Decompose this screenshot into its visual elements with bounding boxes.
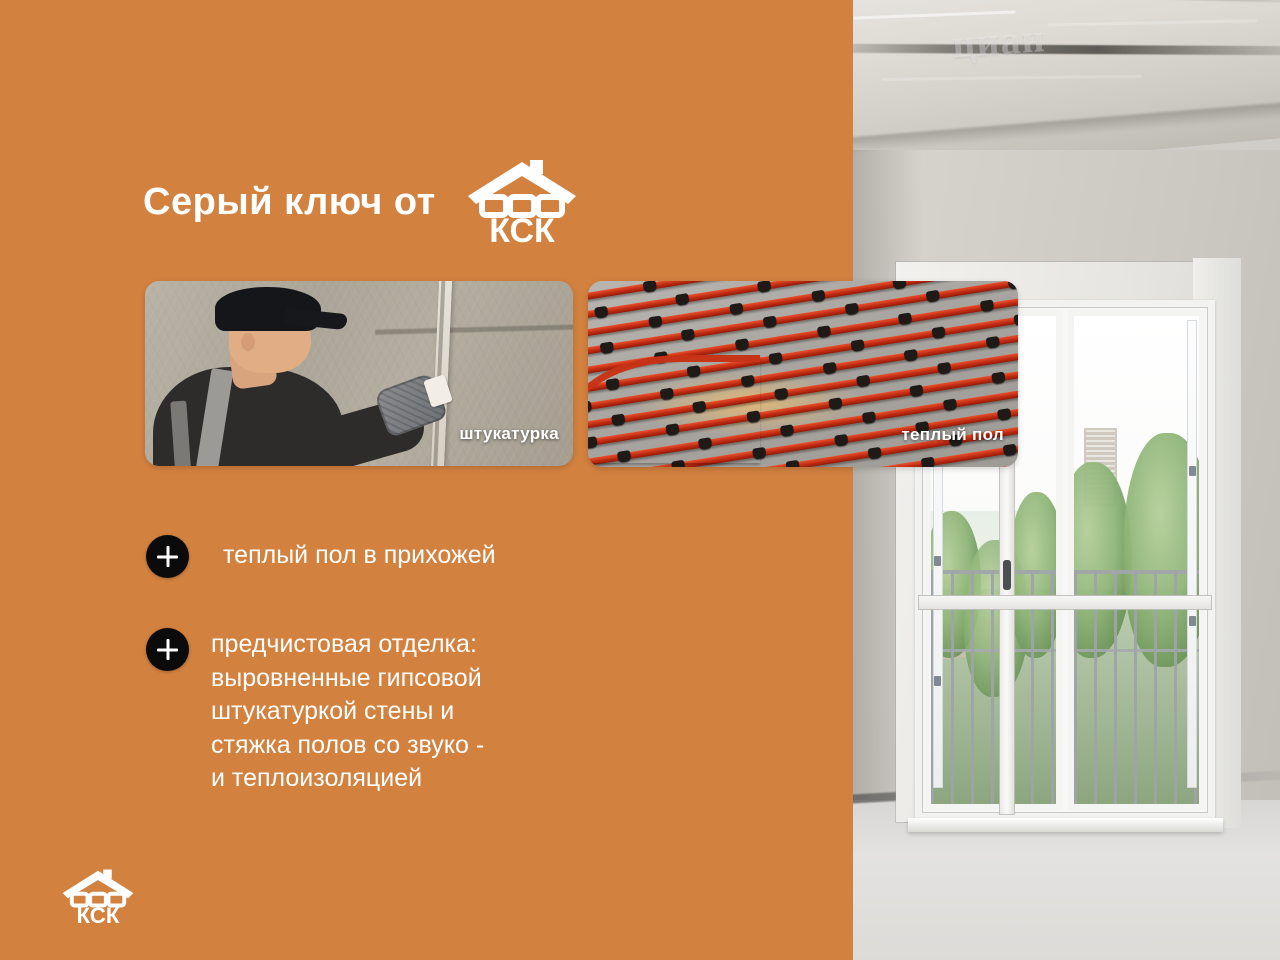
- list-item: теплый пол в прихожей: [146, 533, 706, 578]
- card-warm-floor-label: теплый пол: [901, 425, 1004, 445]
- list-item-text: теплый пол в прихожей: [211, 533, 496, 573]
- card-plaster-label: штукатурка: [459, 424, 559, 444]
- feature-list: теплый пол в прихожей предчистовая отдел…: [146, 533, 706, 796]
- ceiling-seam: [853, 44, 1280, 56]
- worker-ear: [241, 333, 255, 351]
- slide-root: циан Серый ключ от КСК: [0, 0, 1280, 960]
- ceiling-seam: [953, 0, 1280, 3]
- list-item: предчистовая отделка: выровненные гипсов…: [146, 626, 706, 796]
- ceiling-streak: [853, 10, 1016, 20]
- film-marking: [1189, 466, 1196, 476]
- glass-pane: [1074, 316, 1199, 804]
- footer-house-logo-icon: КСК: [60, 869, 136, 930]
- film-marking: [934, 676, 941, 686]
- ceiling-streak: [882, 75, 1142, 81]
- svg-text:КСК: КСК: [489, 212, 555, 244]
- film-marking: [934, 556, 941, 566]
- ceiling-streak: [1047, 19, 1257, 26]
- orange-content-panel: Серый ключ от КСК: [0, 0, 853, 960]
- plus-icon: [146, 535, 189, 578]
- plus-icon: [146, 628, 189, 671]
- pipe-loop-curve: [588, 355, 760, 463]
- protective-film-strip: [1187, 320, 1197, 788]
- list-item-text: предчистовая отделка: выровненные гипсов…: [211, 626, 484, 796]
- window-sill: [908, 818, 1223, 832]
- house-logo-icon: КСК: [464, 160, 580, 244]
- interior-photo: циан: [853, 0, 1280, 960]
- card-plaster[interactable]: штукатурка: [145, 281, 573, 466]
- card-warm-floor[interactable]: теплый пол: [588, 281, 1018, 467]
- window-handle-icon[interactable]: [1003, 560, 1011, 590]
- door-leaf-right: [1068, 310, 1205, 810]
- title-row: Серый ключ от КСК: [143, 160, 580, 244]
- film-marking: [1189, 616, 1196, 626]
- window-transom: [919, 596, 1211, 609]
- page-title: Серый ключ от: [143, 181, 436, 224]
- svg-text:КСК: КСК: [77, 903, 120, 925]
